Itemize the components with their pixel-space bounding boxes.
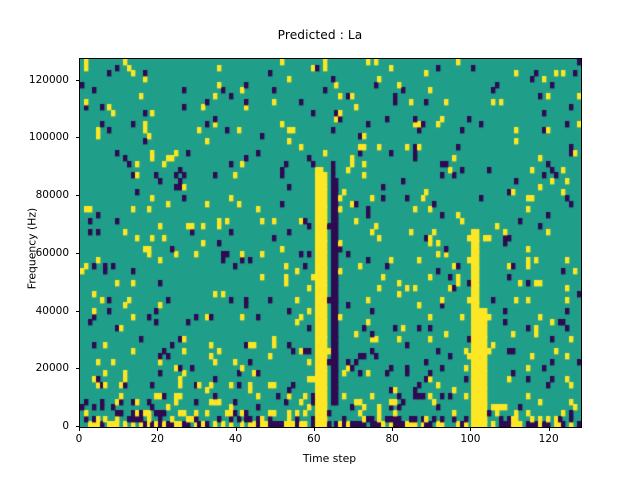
x-tick-label: 60 xyxy=(307,433,320,445)
x-tick-label: 0 xyxy=(76,433,83,445)
matplotlib-figure: Predicted : La 0200004000060000800001000… xyxy=(0,0,640,480)
y-tick-label: 100000 xyxy=(29,131,69,143)
y-tick-mark xyxy=(76,137,80,138)
y-tick-label: 60000 xyxy=(36,247,69,259)
heatmap-axes xyxy=(79,58,582,428)
x-tick-label: 120 xyxy=(539,433,559,445)
y-tick-mark xyxy=(76,253,80,254)
x-tick-label: 40 xyxy=(229,433,242,445)
x-tick-mark xyxy=(314,427,315,431)
x-tick-label: 20 xyxy=(151,433,164,445)
y-tick-label: 40000 xyxy=(36,305,69,317)
chart-title: Predicted : La xyxy=(0,28,640,42)
y-tick-label: 120000 xyxy=(29,74,69,86)
x-tick-label: 100 xyxy=(460,433,480,445)
x-tick-mark xyxy=(392,427,393,431)
x-tick-mark xyxy=(79,427,80,431)
x-tick-mark xyxy=(470,427,471,431)
x-tick-mark xyxy=(157,427,158,431)
heatmap-canvas xyxy=(80,59,581,427)
y-tick-mark xyxy=(76,311,80,312)
x-tick-label: 80 xyxy=(385,433,398,445)
y-axis-label: Frequency (Hz) xyxy=(26,169,39,329)
y-tick-label: 0 xyxy=(62,420,69,432)
y-tick-mark xyxy=(76,195,80,196)
x-axis-label: Time step xyxy=(79,452,580,465)
y-tick-label: 80000 xyxy=(36,189,69,201)
y-tick-mark xyxy=(76,368,80,369)
x-tick-mark xyxy=(549,427,550,431)
y-tick-label: 20000 xyxy=(36,362,69,374)
x-tick-mark xyxy=(236,427,237,431)
y-tick-mark xyxy=(76,80,80,81)
